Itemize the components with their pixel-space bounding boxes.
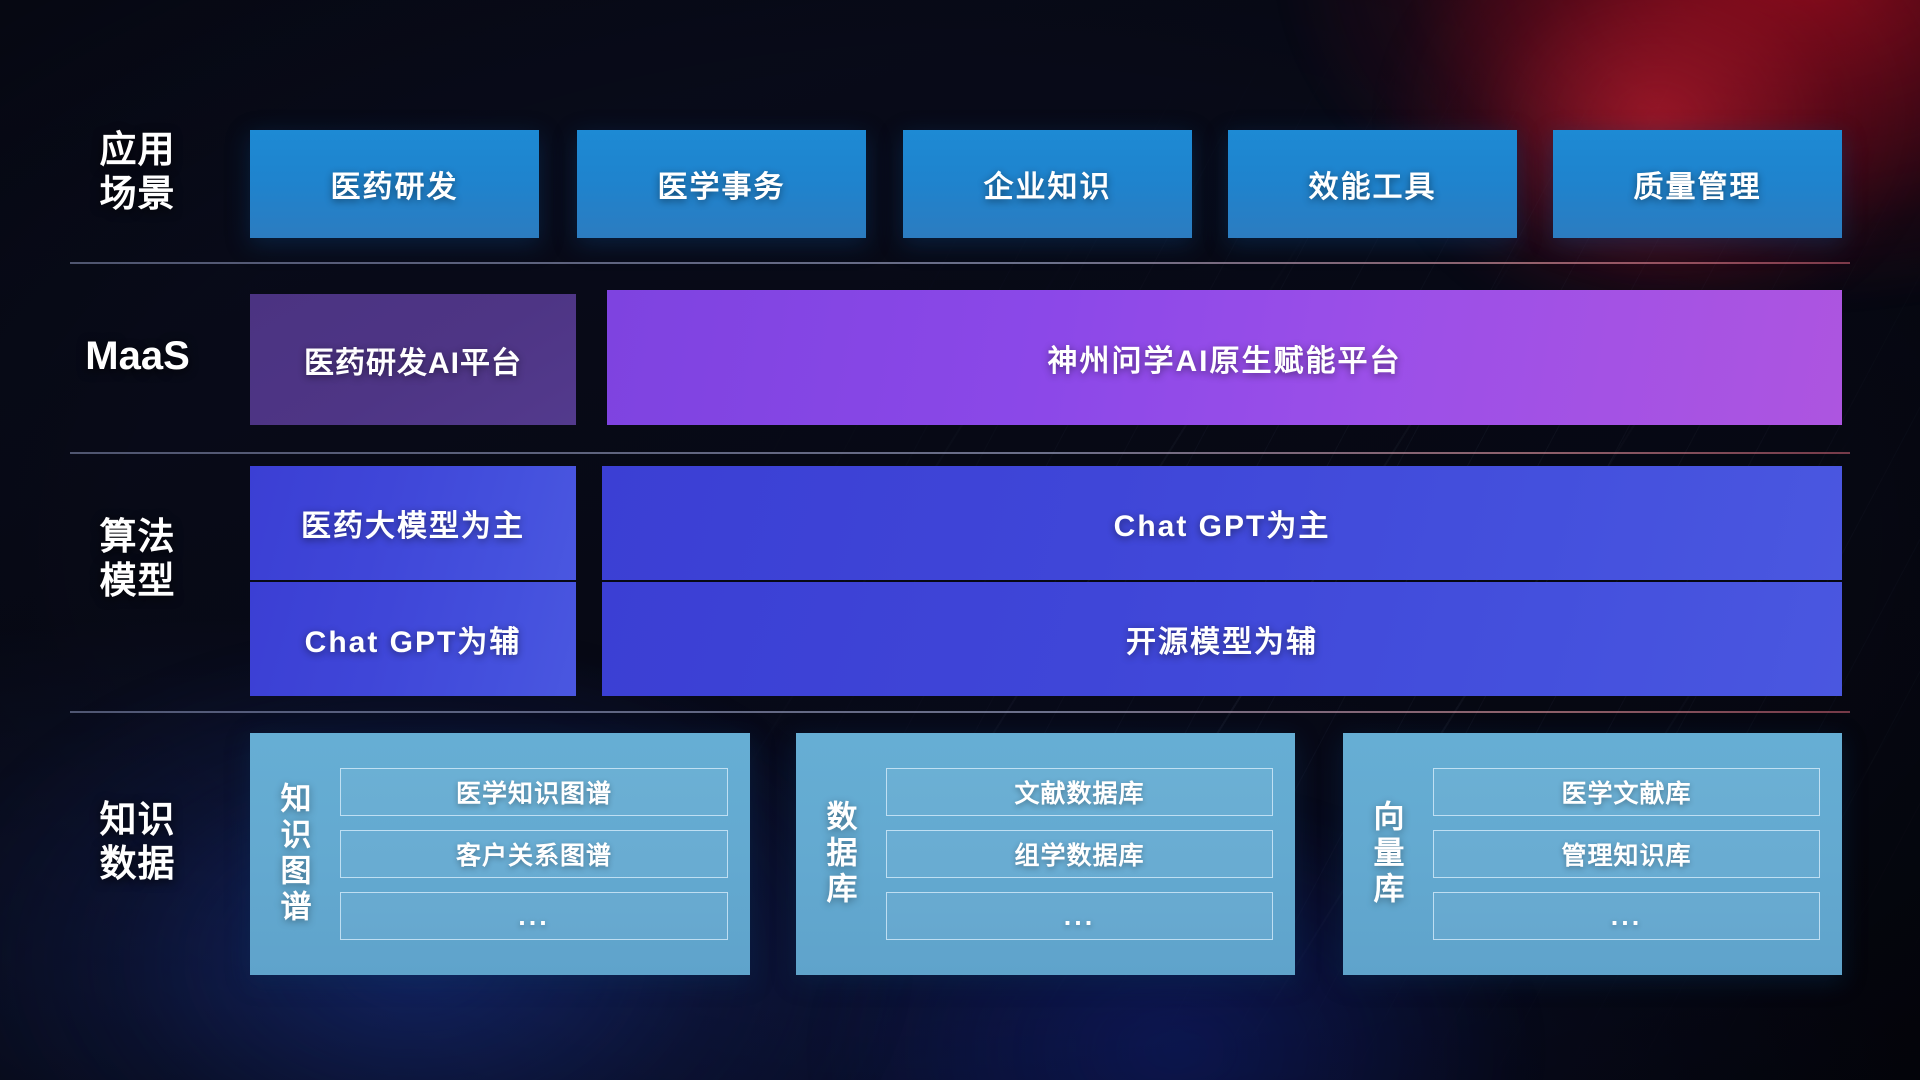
knowledge-item[interactable]: 组学数据库: [886, 830, 1273, 878]
algo-box-label: Chat GPT为主: [1114, 501, 1331, 545]
knowledge-panel-vector-store[interactable]: 向量库 医学文献库 管理知识库 ...: [1343, 733, 1842, 975]
divider-1: [70, 262, 1850, 264]
knowledge-panel-items: 文献数据库 组学数据库 ...: [882, 733, 1295, 975]
app-box-medical-affairs[interactable]: 医学事务: [577, 130, 866, 238]
app-box-label: 医学事务: [658, 162, 786, 206]
tier-label-line-2: 数据: [70, 842, 205, 886]
knowledge-panel-title: 数据库: [796, 733, 882, 975]
maas-box-label: 医药研发AI平台: [304, 338, 522, 382]
maas-box-shenzhou-wenxue-platform[interactable]: 神州问学AI原生赋能平台: [607, 290, 1842, 425]
knowledge-panel-knowledge-graph[interactable]: 知识图谱 医学知识图谱 客户关系图谱 ...: [250, 733, 750, 975]
app-box-label: 质量管理: [1634, 162, 1762, 206]
app-box-enterprise-knowledge[interactable]: 企业知识: [903, 130, 1192, 238]
knowledge-panel-title: 知识图谱: [250, 733, 336, 975]
tier-label-application-scenarios: 应用 场景: [70, 128, 205, 215]
tier-label-line-2: 场景: [70, 172, 205, 216]
tier-label-line-2: 模型: [70, 559, 205, 603]
tier-label-knowledge-data: 知识 数据: [70, 798, 205, 885]
app-box-quality-management[interactable]: 质量管理: [1553, 130, 1842, 238]
algo-box-medicine-large-model-primary[interactable]: 医药大模型为主: [250, 466, 576, 580]
algo-box-chatgpt-secondary[interactable]: Chat GPT为辅: [250, 582, 576, 696]
maas-box-label: 神州问学AI原生赋能平台: [1048, 336, 1402, 380]
knowledge-item[interactable]: 文献数据库: [886, 768, 1273, 816]
tier-label-line-1: 应用: [70, 128, 205, 172]
tier-label-line-1: 知识: [70, 798, 205, 842]
knowledge-item[interactable]: 医学文献库: [1433, 768, 1820, 816]
app-box-label: 效能工具: [1309, 162, 1437, 206]
knowledge-panel-title: 向量库: [1343, 733, 1429, 975]
algo-box-label: 开源模型为辅: [1126, 617, 1318, 661]
app-box-label: 医药研发: [331, 162, 459, 206]
divider-3: [70, 711, 1850, 713]
app-box-medicine-rnd[interactable]: 医药研发: [250, 130, 539, 238]
algo-box-chatgpt-primary[interactable]: Chat GPT为主: [602, 466, 1842, 580]
knowledge-item-more[interactable]: ...: [1433, 892, 1820, 940]
divider-2: [70, 452, 1850, 454]
architecture-diagram: 应用 场景 医药研发 医学事务 企业知识 效能工具 质量管理 MaaS 医药研发…: [0, 0, 1920, 1080]
app-box-label: 企业知识: [984, 162, 1112, 206]
tier-label-text: MaaS: [70, 333, 205, 380]
tier-label-maas: MaaS: [70, 333, 205, 380]
knowledge-item[interactable]: 管理知识库: [1433, 830, 1820, 878]
knowledge-item-more[interactable]: ...: [340, 892, 728, 940]
knowledge-item-more[interactable]: ...: [886, 892, 1273, 940]
algo-box-label: Chat GPT为辅: [305, 617, 522, 661]
algo-box-label: 医药大模型为主: [301, 501, 525, 545]
tier-label-line-1: 算法: [70, 515, 205, 559]
knowledge-panel-database[interactable]: 数据库 文献数据库 组学数据库 ...: [796, 733, 1295, 975]
knowledge-item[interactable]: 客户关系图谱: [340, 830, 728, 878]
tier-label-algorithm-models: 算法 模型: [70, 515, 205, 602]
algo-box-opensource-secondary[interactable]: 开源模型为辅: [602, 582, 1842, 696]
knowledge-panel-items: 医学文献库 管理知识库 ...: [1429, 733, 1842, 975]
app-box-efficiency-tools[interactable]: 效能工具: [1228, 130, 1517, 238]
knowledge-panel-items: 医学知识图谱 客户关系图谱 ...: [336, 733, 750, 975]
maas-box-medicine-ai-platform[interactable]: 医药研发AI平台: [250, 294, 576, 425]
knowledge-item[interactable]: 医学知识图谱: [340, 768, 728, 816]
